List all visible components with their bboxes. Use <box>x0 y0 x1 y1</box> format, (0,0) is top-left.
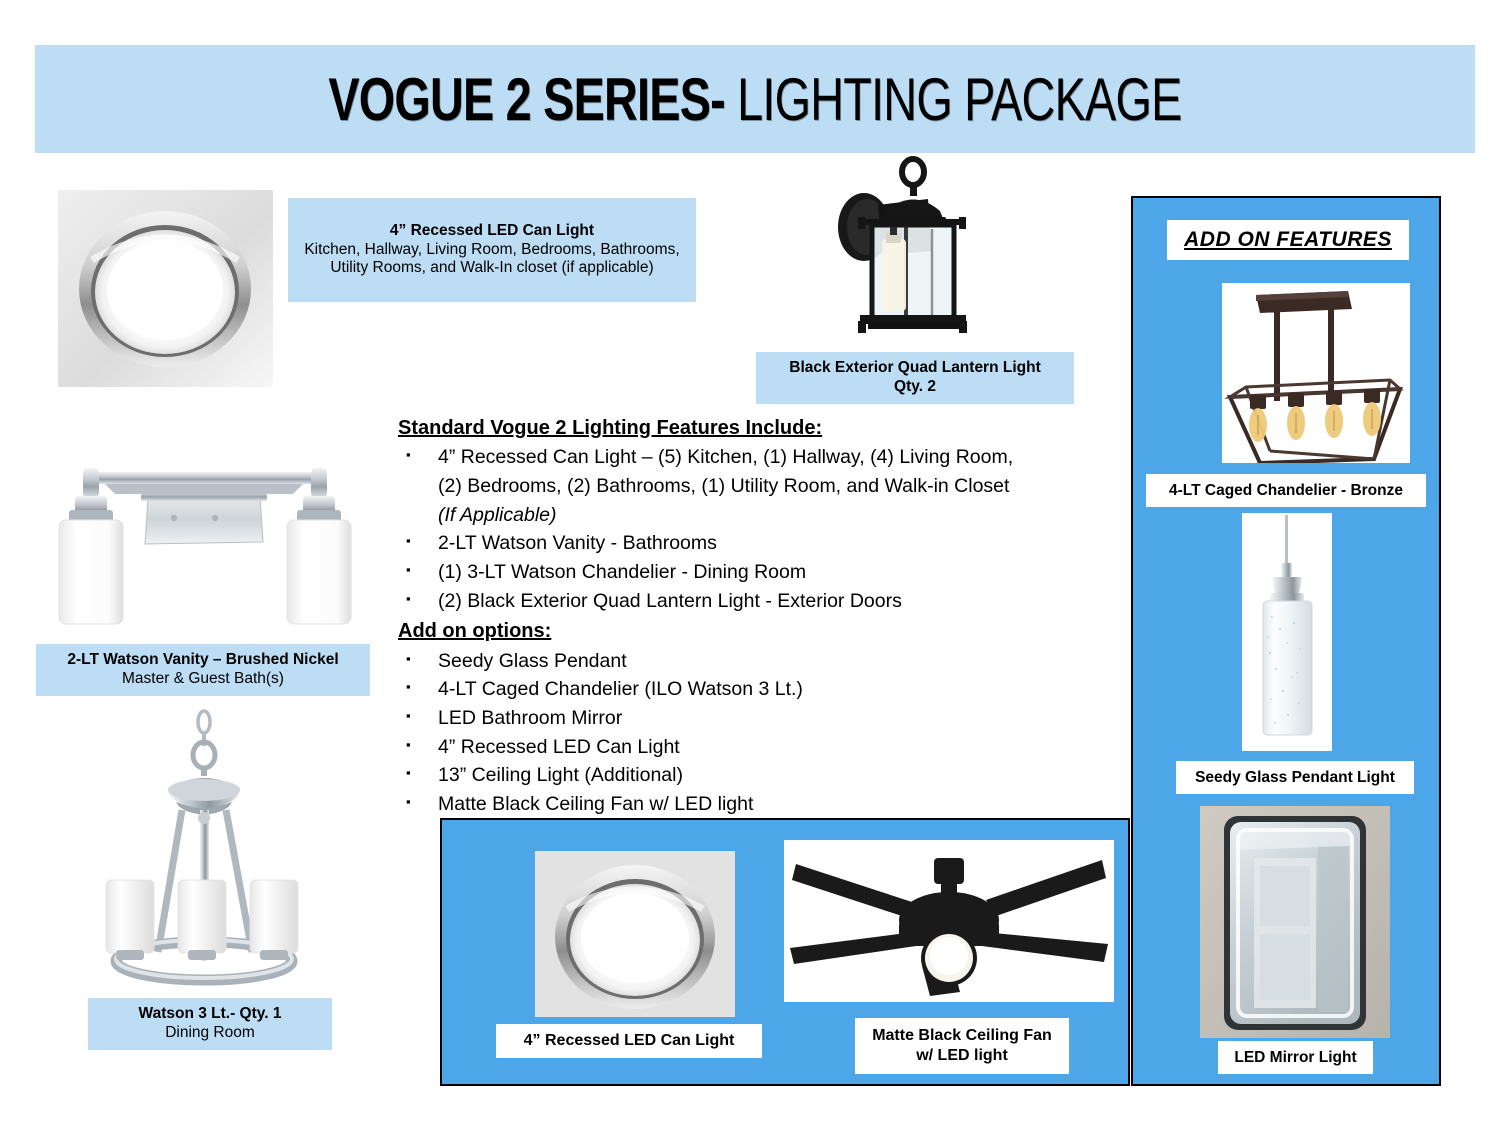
caption-4lt-caged-chandelier: 4-LT Caged Chandelier - Bronze <box>1146 474 1426 507</box>
bullet-icon: ▪ <box>398 647 438 676</box>
caption-line-2: Dining Room <box>165 1024 255 1043</box>
addons-item-text: Seedy Glass Pendant <box>438 647 1038 676</box>
addons-list: ▪ Seedy Glass Pendant ▪ 4-LT Caged Chand… <box>398 647 1038 819</box>
caption-2lt-watson-vanity: 2-LT Watson Vanity – Brushed Nickel Mast… <box>36 644 370 696</box>
recessed-led-can-light-photo <box>58 190 273 387</box>
addons-list-item: ▪ 13” Ceiling Light (Additional) <box>398 761 1038 790</box>
addons-item-text: LED Bathroom Mirror <box>438 704 1038 733</box>
caption-line-1: 4-LT Caged Chandelier - Bronze <box>1169 481 1403 500</box>
caption-line-2: Qty. 2 <box>894 378 936 397</box>
caption-recessed-led-can-light-bottom: 4” Recessed LED Can Light <box>496 1024 762 1058</box>
black-exterior-quad-lantern-photo <box>820 155 1010 345</box>
features-list: ▪ 4” Recessed Can Light – (5) Kitchen, (… <box>398 443 1038 615</box>
add-on-features-header: ADD ON FEATURES <box>1167 220 1409 260</box>
caption-line-2: w/ LED light <box>916 1046 1008 1066</box>
addons-list-item: ▪ LED Bathroom Mirror <box>398 704 1038 733</box>
caption-line-1: Matte Black Ceiling Fan <box>872 1026 1052 1046</box>
addons-item-text: 13” Ceiling Light (Additional) <box>438 761 1038 790</box>
features-text-block: Standard Vogue 2 Lighting Features Inclu… <box>398 414 1038 819</box>
bullet-icon: ▪ <box>398 675 438 704</box>
bullet-icon: ▪ <box>398 443 438 529</box>
bullet-icon: ▪ <box>398 558 438 587</box>
features-heading: Standard Vogue 2 Lighting Features Inclu… <box>398 414 1038 443</box>
addons-list-item: ▪ Seedy Glass Pendant <box>398 647 1038 676</box>
bullet-icon: ▪ <box>398 790 438 819</box>
caption-line-2: Master & Guest Bath(s) <box>122 670 284 689</box>
2lt-watson-vanity-photo <box>45 444 363 634</box>
features-list-item: ▪ 2-LT Watson Vanity - Bathrooms <box>398 529 1038 558</box>
caption-black-exterior-quad-lantern: Black Exterior Quad Lantern Light Qty. 2 <box>756 352 1074 404</box>
seedy-glass-pendant-photo <box>1242 513 1332 751</box>
caption-line-1: LED Mirror Light <box>1234 1048 1356 1067</box>
add-on-features-header-text: ADD ON FEATURES <box>1184 227 1392 253</box>
page-title: VOGUE 2 SERIES- LIGHTING PACKAGE <box>328 65 1181 134</box>
features-list-item: ▪ (2) Black Exterior Quad Lantern Light … <box>398 587 1038 616</box>
caption-matte-black-ceiling-fan: Matte Black Ceiling Fan w/ LED light <box>855 1018 1069 1074</box>
caption-line-1: 4” Recessed LED Can Light <box>390 222 594 241</box>
title-banner: VOGUE 2 SERIES- LIGHTING PACKAGE <box>35 45 1475 153</box>
features-item-note: (If Applicable) <box>438 501 1038 530</box>
features-item-text: 2-LT Watson Vanity - Bathrooms <box>438 529 1038 558</box>
caption-line-1: 4” Recessed LED Can Light <box>524 1031 735 1051</box>
addons-item-text: Matte Black Ceiling Fan w/ LED light <box>438 790 1038 819</box>
matte-black-ceiling-fan-photo <box>784 840 1114 1002</box>
caption-line-1: Seedy Glass Pendant Light <box>1195 768 1395 787</box>
caption-led-mirror-light: LED Mirror Light <box>1218 1041 1373 1074</box>
addons-list-item: ▪ Matte Black Ceiling Fan w/ LED light <box>398 790 1038 819</box>
caption-seedy-glass-pendant: Seedy Glass Pendant Light <box>1176 761 1414 794</box>
addons-item-text: 4” Recessed LED Can Light <box>438 733 1038 762</box>
features-item-text: 4” Recessed Can Light – (5) Kitchen, (1)… <box>438 446 1013 497</box>
led-mirror-light-photo <box>1200 806 1390 1038</box>
caption-watson-3lt: Watson 3 Lt.- Qty. 1 Dining Room <box>88 998 332 1050</box>
features-item-text: (1) 3-LT Watson Chandelier - Dining Room <box>438 558 1038 587</box>
recessed-led-can-light-photo-bottom <box>535 851 735 1017</box>
watson-3lt-chandelier-photo <box>90 708 330 993</box>
bullet-icon: ▪ <box>398 529 438 558</box>
features-list-item: ▪ 4” Recessed Can Light – (5) Kitchen, (… <box>398 443 1038 529</box>
caption-line-1: Black Exterior Quad Lantern Light <box>789 359 1041 378</box>
features-item-text: (2) Black Exterior Quad Lantern Light - … <box>438 587 1038 616</box>
features-list-item: ▪ (1) 3-LT Watson Chandelier - Dining Ro… <box>398 558 1038 587</box>
caption-recessed-led-can-light-top: 4” Recessed LED Can Light Kitchen, Hallw… <box>288 198 696 302</box>
bullet-icon: ▪ <box>398 761 438 790</box>
caption-line-2: Kitchen, Hallway, Living Room, Bedrooms,… <box>296 241 688 279</box>
bullet-icon: ▪ <box>398 587 438 616</box>
bullet-icon: ▪ <box>398 704 438 733</box>
page-title-regular: LIGHTING PACKAGE <box>725 66 1182 133</box>
addons-item-text: 4-LT Caged Chandelier (ILO Watson 3 Lt.) <box>438 675 1038 704</box>
addons-list-item: ▪ 4” Recessed LED Can Light <box>398 733 1038 762</box>
addons-heading: Add on options: <box>398 617 1038 646</box>
4lt-caged-chandelier-photo <box>1222 283 1410 463</box>
bullet-icon: ▪ <box>398 733 438 762</box>
page-title-bold: VOGUE 2 SERIES- <box>328 66 725 133</box>
caption-line-1: 2-LT Watson Vanity – Brushed Nickel <box>67 651 338 670</box>
addons-list-item: ▪ 4-LT Caged Chandelier (ILO Watson 3 Lt… <box>398 675 1038 704</box>
caption-line-1: Watson 3 Lt.- Qty. 1 <box>139 1005 282 1024</box>
